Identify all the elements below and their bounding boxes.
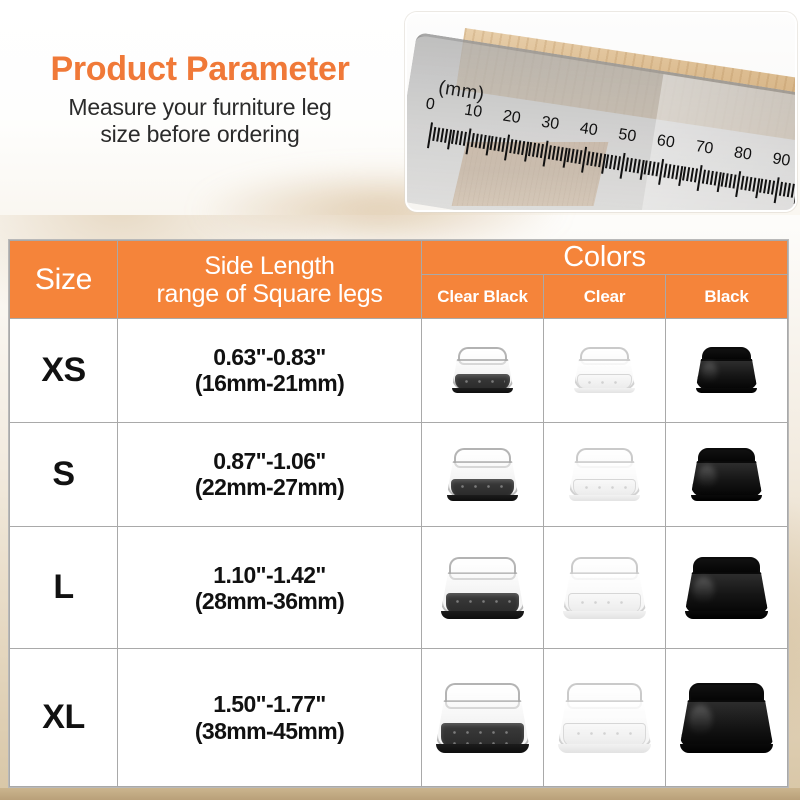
ruler-tick-marks: 0102030405060708090100 (405, 35, 797, 212)
leg-cap-base (574, 388, 635, 394)
leg-cap-black-icon (680, 683, 774, 753)
ruler-tick-label: 90 (771, 150, 791, 171)
ruler-illustration-panel: (mm) 0102030405060708090100 (405, 12, 797, 212)
ruler-tick-label: 30 (540, 114, 560, 135)
cell-side-length-range: 1.50"-1.77"(38mm-45mm) (118, 649, 422, 787)
column-header-size: Size (10, 241, 118, 319)
leg-cap-black-icon (696, 347, 758, 393)
page-subtitle: Measure your furniture legsize before or… (0, 94, 400, 148)
cell-color-clear-black (422, 527, 544, 649)
leg-cap-base (452, 388, 513, 394)
leg-cap-clear-icon (558, 683, 652, 753)
leg-cap-clear-icon (563, 557, 647, 619)
cell-size: XS (10, 319, 118, 423)
column-header-colors: Colors (422, 241, 788, 275)
cell-size: L (10, 527, 118, 649)
cell-color-black (666, 319, 788, 423)
spec-table: Size Side Lengthrange of Square legs Col… (9, 240, 788, 787)
column-header-color-clear-black: Clear Black (422, 275, 544, 319)
spec-table-container: Size Side Lengthrange of Square legs Col… (8, 239, 789, 788)
cell-color-black (666, 422, 788, 527)
table-row: XS0.63"-0.83"(16mm-21mm) (10, 319, 788, 423)
leg-cap-base (558, 744, 650, 752)
leg-cap-base (680, 744, 772, 752)
cell-color-clear (544, 527, 666, 649)
ruler-tick-label: 70 (694, 138, 714, 159)
ruler-tick-label: 10 (463, 101, 483, 122)
leg-cap-clearblack-icon (436, 683, 530, 753)
cell-color-clear (544, 649, 666, 787)
column-header-side-length: Side Lengthrange of Square legs (118, 241, 422, 319)
cell-side-length-range: 1.10"-1.42"(28mm-36mm) (118, 527, 422, 649)
leg-cap-clearblack-icon (447, 448, 519, 501)
leg-cap-base (685, 611, 767, 618)
table-row: XL1.50"-1.77"(38mm-45mm) (10, 649, 788, 787)
leg-cap-clear-icon (574, 347, 636, 393)
leg-cap-base (441, 611, 523, 618)
leg-cap-base (696, 388, 757, 394)
table-head: Size Side Lengthrange of Square legs Col… (10, 241, 788, 319)
cell-size: S (10, 422, 118, 527)
ruler-tick-label: 20 (501, 108, 521, 129)
cell-color-black (666, 649, 788, 787)
leg-cap-black-icon (685, 557, 769, 619)
ruler-tick-label: 50 (617, 126, 637, 147)
leg-cap-clear-icon (569, 448, 641, 501)
cell-color-black (666, 527, 788, 649)
leg-cap-base (569, 495, 640, 501)
heading-block: Product Parameter Measure your furniture… (0, 52, 400, 148)
cell-color-clear (544, 422, 666, 527)
cell-color-clear-black (422, 649, 544, 787)
table-body: XS0.63"-0.83"(16mm-21mm)S0.87"-1.06"(22m… (10, 319, 788, 787)
leg-cap-pad (451, 479, 514, 497)
leg-cap-base (691, 495, 762, 501)
bottom-strip (0, 788, 800, 800)
table-row: L1.10"-1.42"(28mm-36mm) (10, 527, 788, 649)
header-row-primary: Size Side Lengthrange of Square legs Col… (10, 241, 788, 275)
column-header-color-clear: Clear (544, 275, 666, 319)
ruler-tick-label: 0 (424, 95, 436, 114)
ruler-tick-label: 60 (656, 132, 676, 153)
cell-side-length-range: 0.87"-1.06"(22mm-27mm) (118, 422, 422, 527)
leg-cap-black-icon (691, 448, 763, 501)
leg-cap-pad (573, 479, 636, 497)
leg-cap-pad (695, 479, 758, 497)
cell-color-clear (544, 319, 666, 423)
column-header-color-black: Black (666, 275, 788, 319)
ruler-tick-label: 80 (733, 144, 753, 165)
cell-color-clear-black (422, 422, 544, 527)
table-row: S0.87"-1.06"(22mm-27mm) (10, 422, 788, 527)
leg-cap-clearblack-icon (452, 347, 514, 393)
page-title: Product Parameter (0, 52, 400, 88)
leg-cap-base (447, 495, 518, 501)
leg-cap-base (563, 611, 645, 618)
ruler-tick-label: 40 (578, 120, 598, 141)
cell-color-clear-black (422, 319, 544, 423)
leg-cap-base (436, 744, 528, 752)
leg-cap-clearblack-icon (441, 557, 525, 619)
cell-side-length-range: 0.63"-0.83"(16mm-21mm) (118, 319, 422, 423)
cell-size: XL (10, 649, 118, 787)
